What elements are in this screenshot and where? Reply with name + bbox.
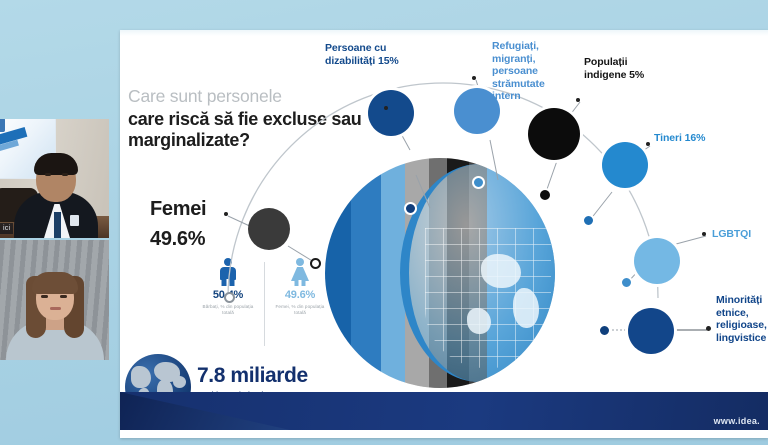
lapel-pin-icon [70, 215, 79, 226]
person-eye [41, 295, 48, 298]
label-minoritati: Minorități etnice, religioase, lingvisti… [716, 294, 768, 344]
sphere-graphic [325, 158, 555, 388]
female-caption: Femei, % din populația totală [270, 304, 330, 316]
person-eye [60, 295, 67, 298]
person-eye [62, 173, 68, 176]
arc-node [582, 214, 595, 227]
page-title-bold: care riscă să fie excluse sau marginaliz… [128, 109, 388, 151]
label-dizabilitati: Persoane cu dizabilități 15% [325, 42, 425, 67]
label-tip [706, 326, 711, 331]
person-eye [45, 173, 51, 176]
bubble-indigene[interactable] [528, 108, 580, 160]
bubble-tineri[interactable] [602, 142, 648, 188]
org-logo-icon [0, 119, 5, 132]
participant-name-badge: ici [0, 223, 13, 234]
bubble-femei[interactable] [248, 208, 290, 250]
female-percent: 49.6% [270, 289, 330, 301]
arc-node [224, 292, 235, 303]
slide-top-gradient [120, 30, 768, 36]
label-tip [384, 106, 388, 110]
male-caption: Bărbați, % din populația totală [198, 304, 258, 316]
gender-stat-female: 49.6% Femei, % din populația totală [270, 258, 330, 316]
label-tip [702, 232, 706, 236]
person-hair [32, 272, 78, 294]
female-figure-icon [270, 258, 330, 286]
label-tip [224, 212, 228, 216]
arc-node [472, 176, 485, 189]
femei-label: Femei [150, 198, 206, 221]
arc-node [538, 188, 552, 202]
label-tip [646, 142, 650, 146]
arc-node [598, 324, 611, 337]
label-tineri: Tineri 16% [654, 132, 710, 145]
arc-node [404, 202, 417, 215]
page-title-faded: Care sunt personele [128, 86, 282, 107]
person-hair [34, 153, 78, 175]
arc-node [620, 276, 633, 289]
gender-stat-male: 50.4% Bărbați, % din populația totală [198, 258, 258, 316]
label-indigene: Populații indigene 5% [584, 56, 656, 81]
person-tie [54, 212, 61, 238]
slide-footer [120, 392, 768, 430]
gender-stats: 50.4% Bărbați, % din populația totală 49… [198, 258, 333, 352]
label-lgbtqi: LGBTQI [712, 228, 768, 241]
world-population-value: 7.8 miliarde [197, 364, 308, 388]
bubble-lgbtqi[interactable] [634, 238, 680, 284]
bubble-minoritati[interactable] [628, 308, 674, 354]
label-tip [472, 76, 476, 80]
screen: ici Care sunt personele care riscă să fi… [0, 0, 768, 445]
person-mouth [50, 307, 61, 310]
label-tip [576, 98, 580, 102]
divider [264, 262, 265, 346]
video-tile-participant-bottom[interactable] [0, 240, 109, 360]
footer-triangle [120, 392, 290, 430]
site-url: www.idea. [714, 416, 760, 426]
label-refugiati: Refugiați, migranți, persoane strămutate… [492, 40, 562, 103]
arc-node [310, 258, 321, 269]
bubble-dizabilitati[interactable] [368, 90, 414, 136]
shared-slide[interactable]: Care sunt personele care riscă să fie ex… [120, 30, 768, 438]
male-figure-icon [198, 258, 258, 286]
video-tile-participant-top[interactable]: ici [0, 119, 109, 238]
femei-value: 49.6% [150, 228, 205, 251]
